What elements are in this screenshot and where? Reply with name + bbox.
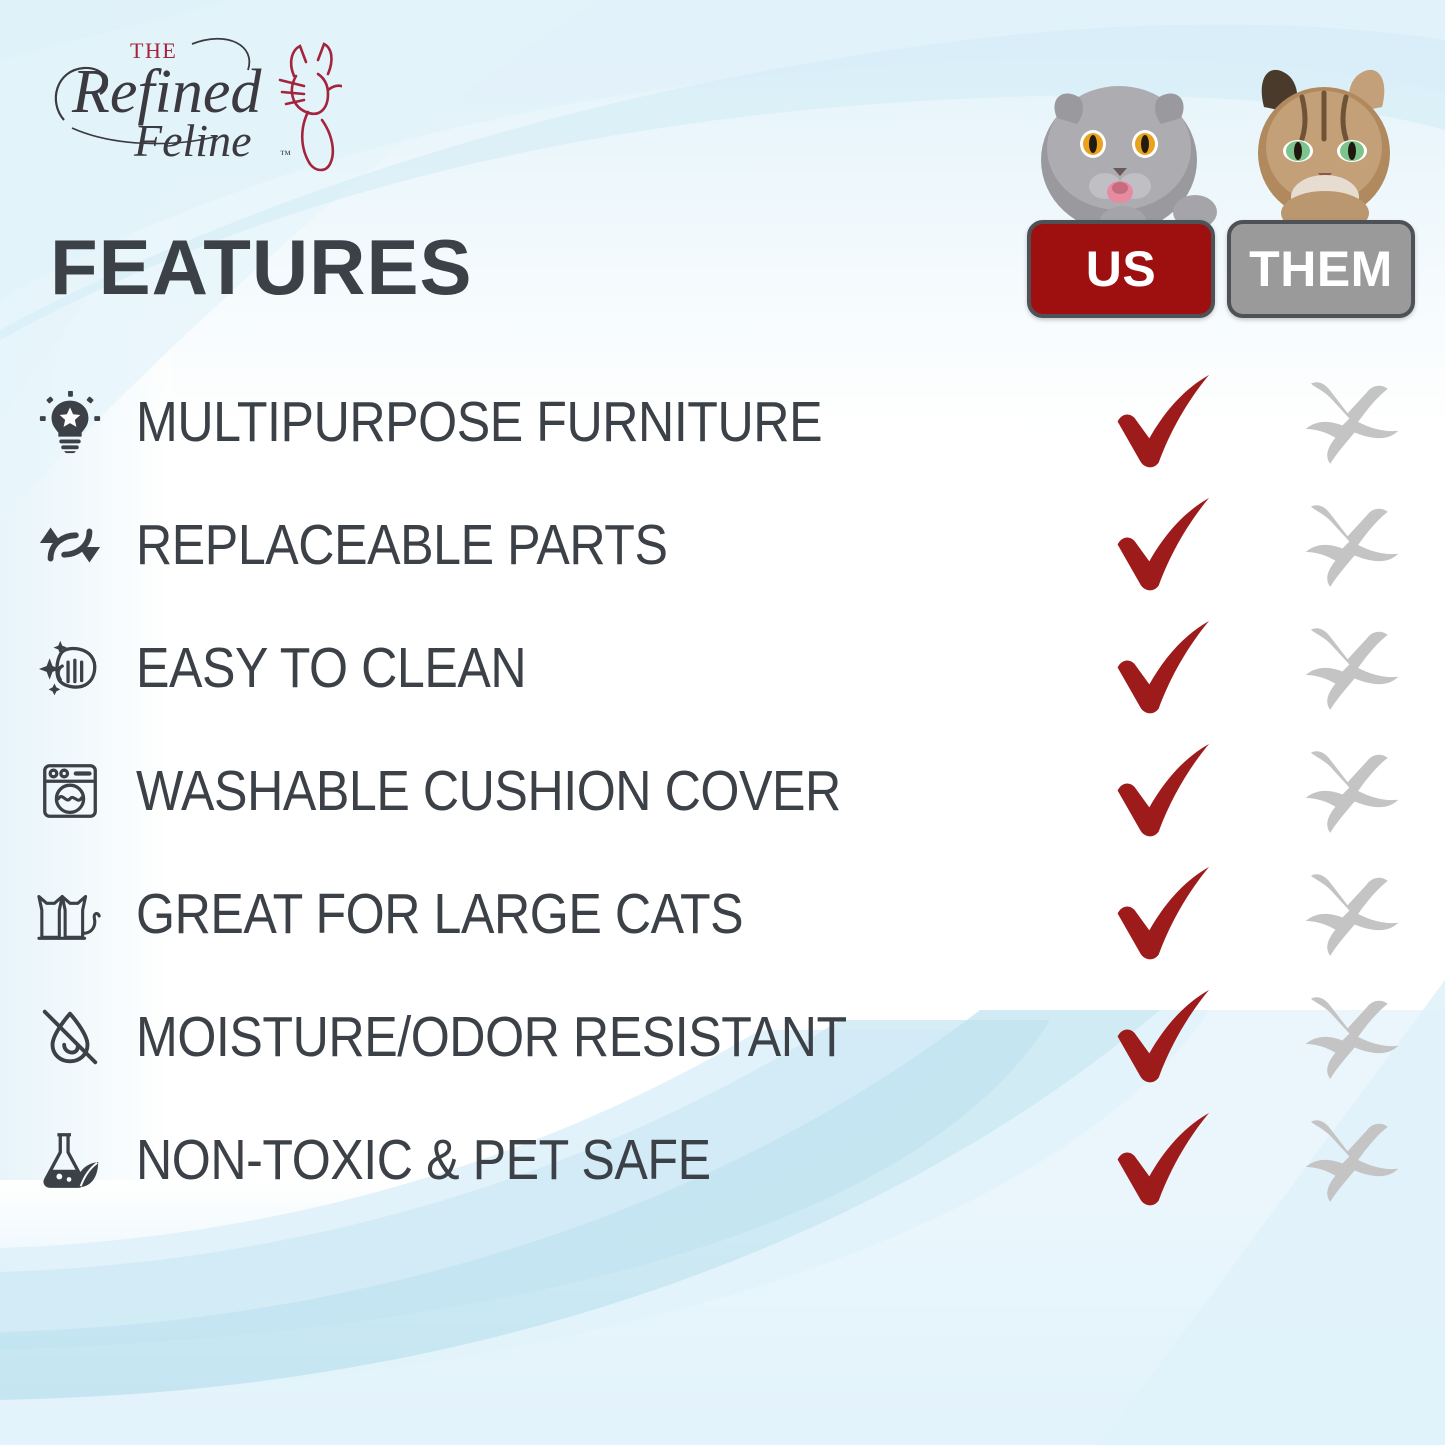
- feature-row: MULTIPURPOSE FURNITURE: [0, 360, 1445, 483]
- red-check-mark: [1108, 492, 1228, 597]
- tabby-cat-photo: [1232, 47, 1422, 227]
- feature-row: MOISTURE/ODOR RESISTANT: [0, 975, 1445, 1098]
- page-title: FEATURES: [50, 228, 473, 306]
- red-check-mark: [1108, 738, 1228, 843]
- feature-row: REPLACEABLE PARTS: [0, 483, 1445, 606]
- grey-cross-mark: [1292, 615, 1412, 720]
- hand-wipe-sparkle-icon: [34, 632, 106, 704]
- features-list: MULTIPURPOSE FURNITUREREPLACEABLE PARTSE…: [0, 360, 1445, 1221]
- grey-cat-photo: [1027, 52, 1227, 237]
- feature-label: NON-TOXIC & PET SAFE: [136, 1127, 711, 1193]
- them-badge[interactable]: THEM: [1227, 220, 1415, 318]
- us-badge-label: US: [1086, 240, 1156, 298]
- feature-label: MULTIPURPOSE FURNITURE: [136, 389, 822, 455]
- lightbulb-star-icon: [34, 386, 106, 458]
- feature-row: WASHABLE CUSHION COVER: [0, 729, 1445, 852]
- header: THE Refined Feline ™ FEATURES: [0, 0, 1445, 345]
- feature-label: REPLACEABLE PARTS: [136, 512, 668, 578]
- grey-cross-mark: [1292, 984, 1412, 1089]
- feature-label: MOISTURE/ODOR RESISTANT: [136, 1004, 847, 1070]
- grey-cross-mark: [1292, 369, 1412, 474]
- washing-machine-icon: [34, 755, 106, 827]
- logo-trademark-symbol: ™: [280, 149, 291, 161]
- them-badge-label: THEM: [1249, 240, 1393, 298]
- grey-cross-mark: [1292, 861, 1412, 966]
- us-badge[interactable]: US: [1027, 220, 1215, 318]
- feature-label: EASY TO CLEAN: [136, 635, 526, 701]
- two-cats-icon: [34, 878, 106, 950]
- flask-leaf-icon: [34, 1124, 106, 1196]
- grey-cross-mark: [1292, 738, 1412, 843]
- feature-label: GREAT FOR LARGE CATS: [136, 881, 743, 947]
- feature-row: EASY TO CLEAN: [0, 606, 1445, 729]
- feature-row: GREAT FOR LARGE CATS: [0, 852, 1445, 975]
- red-check-mark: [1108, 369, 1228, 474]
- no-water-droplet-icon: [34, 1001, 106, 1073]
- feature-label: WASHABLE CUSHION COVER: [136, 758, 841, 824]
- brand-logo: THE Refined Feline ™: [42, 24, 342, 174]
- feature-row: NON-TOXIC & PET SAFE: [0, 1098, 1445, 1221]
- red-check-mark: [1108, 615, 1228, 720]
- comparison-header: US THEM: [1027, 52, 1427, 337]
- grey-cross-mark: [1292, 492, 1412, 597]
- cycle-arrows-icon: [34, 509, 106, 581]
- red-check-mark: [1108, 984, 1228, 1089]
- red-check-mark: [1108, 1107, 1228, 1212]
- red-check-mark: [1108, 861, 1228, 966]
- grey-cross-mark: [1292, 1107, 1412, 1212]
